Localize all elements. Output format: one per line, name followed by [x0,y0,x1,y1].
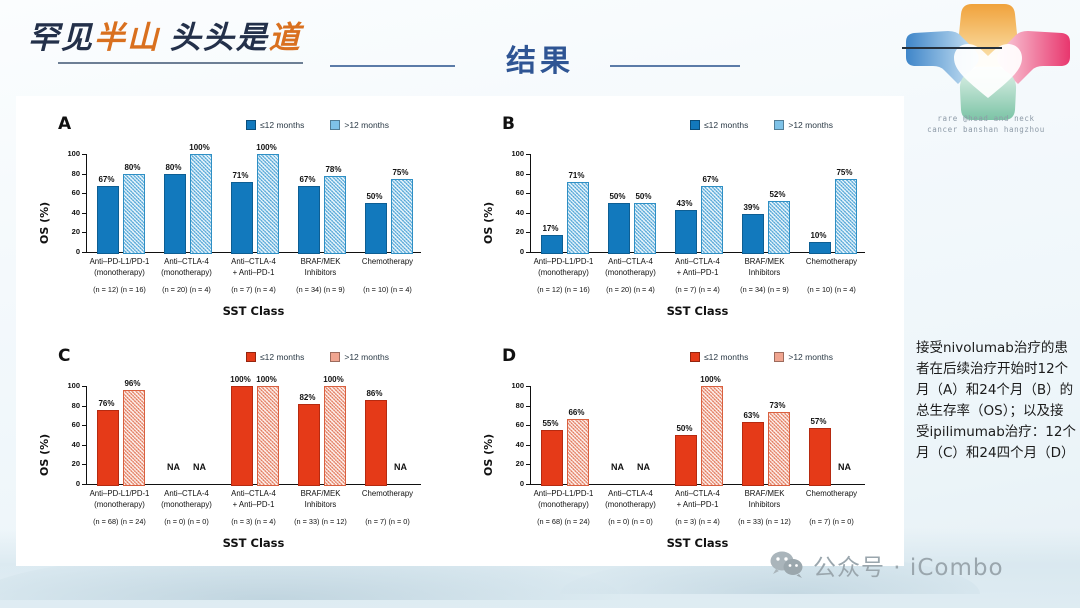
y-tick-A-80 [82,174,86,175]
bar-B-1-gt12 [634,203,656,254]
y-tick-A-20 [82,232,86,233]
chart-legend-C: ≤12 months>12 months [246,352,389,362]
brand-tagline: rare @head and neck cancer banshan hangz… [902,114,1070,136]
bar-value-C-3-gt12: 100% [315,375,353,384]
bar-value-C-2-gt12: 100% [248,375,286,384]
bar-value-B-2-le12: 43% [666,199,704,208]
x-n-label-C-4: (n = 7) (n = 0) [348,517,427,526]
legend-label-le12: ≤12 months [704,352,748,362]
legend-item-le12: ≤12 months [246,352,304,362]
legend-swatch-gt12 [330,352,340,362]
bar-na-D-4-1: NA [829,462,861,472]
x-category-line-C-3-1: Inhibitors [281,500,360,511]
y-tick-B-80 [526,174,530,175]
bar-value-A-1-gt12: 100% [181,143,219,152]
y-tick-A-40 [82,213,86,214]
bar-value-B-3-gt12: 52% [759,190,797,199]
bar-value-D-3-le12: 63% [733,411,771,420]
y-tick-D-100 [526,386,530,387]
bar-A-2-gt12 [257,154,279,254]
y-tick-C-60 [82,425,86,426]
bar-value-B-4-le12: 10% [800,231,838,240]
chart-legend-A: ≤12 months>12 months [246,120,389,130]
bar-A-0-le12 [97,186,119,254]
wechat-watermark: 公众号 · iCombo [770,548,1004,582]
y-tick-B-20 [526,232,530,233]
y-axis-label-A: OS (%) [38,202,51,244]
y-tick-C-80 [82,406,86,407]
x-category-line-C-4-0: Chemotherapy [348,489,427,500]
y-tick-A-0 [82,252,86,253]
x-category-line-D-3-1: Inhibitors [725,500,804,511]
legend-swatch-le12 [246,120,256,130]
bar-value-C-4-le12: 86% [356,389,394,398]
x-category-line-B-4-0: Chemotherapy [792,257,871,268]
bar-C-3-le12 [298,404,320,486]
legend-label-le12: ≤12 months [260,352,304,362]
y-tick-D-80 [526,406,530,407]
legend-item-gt12: >12 months [330,120,389,130]
y-tick-label-B-100: 100 [498,149,524,158]
legend-item-le12: ≤12 months [246,120,304,130]
y-axis-line-A [86,154,87,252]
bar-value-A-2-gt12: 100% [248,143,286,152]
x-n-label-D-4: (n = 7) (n = 0) [792,517,871,526]
brand-tagline-line1: rare @head and neck [902,114,1070,125]
y-tick-label-D-80: 80 [498,401,524,410]
y-tick-label-C-40: 40 [54,440,80,449]
y-tick-label-A-0: 0 [54,247,80,256]
legend-label-gt12: >12 months [788,120,833,130]
bar-C-0-gt12 [123,390,145,486]
y-tick-label-B-80: 80 [498,169,524,178]
bar-C-0-le12 [97,410,119,486]
y-axis-line-D [530,386,531,484]
bar-B-4-gt12 [835,179,857,255]
y-tick-D-20 [526,464,530,465]
chart-legend-B: ≤12 months>12 months [690,120,833,130]
bar-A-4-gt12 [391,179,413,255]
x-axis-title-A: SST Class [86,304,421,318]
annotation-text: 接受nivolumab治疗的患者在后续治疗开始时12个月（A）和24个月（B）的… [916,338,1076,464]
legend-item-gt12: >12 months [774,352,833,362]
bar-D-2-le12 [675,435,697,486]
bar-na-C-4-1: NA [385,462,417,472]
bar-C-3-gt12 [324,386,346,486]
wechat-icon [770,551,804,579]
x-category-line-A-3-1: Inhibitors [281,268,360,279]
bar-value-A-4-le12: 50% [356,192,394,201]
legend-swatch-gt12 [774,352,784,362]
y-tick-D-40 [526,445,530,446]
y-tick-label-B-20: 20 [498,227,524,236]
y-tick-D-60 [526,425,530,426]
legend-item-gt12: >12 months [330,352,389,362]
y-tick-B-40 [526,213,530,214]
y-axis-line-B [530,154,531,252]
hands-heart-icon [902,2,1074,128]
y-tick-C-40 [82,445,86,446]
brand-tagline-line2: cancer banshan hangzhou [902,125,1070,136]
bar-value-B-1-gt12: 50% [625,192,663,201]
y-tick-label-D-60: 60 [498,420,524,429]
x-category-label-C-4: Chemotherapy [348,489,427,500]
panel-letter-B: B [502,114,515,134]
bar-value-A-0-le12: 67% [88,175,126,184]
bar-value-A-1-le12: 80% [155,163,193,172]
bar-A-1-le12 [164,174,186,254]
panel-letter-C: C [58,346,70,366]
legend-label-le12: ≤12 months [704,120,748,130]
legend-swatch-le12 [690,352,700,362]
bar-C-2-le12 [231,386,253,486]
y-tick-label-B-60: 60 [498,188,524,197]
y-tick-D-0 [526,484,530,485]
bar-B-0-gt12 [567,182,589,254]
x-category-line-A-4-0: Chemotherapy [348,257,427,268]
x-axis-title-C: SST Class [86,536,421,550]
bar-A-3-le12 [298,186,320,254]
bar-value-B-4-gt12: 75% [826,168,864,177]
y-axis-label-D: OS (%) [482,434,495,476]
bar-D-4-le12 [809,428,831,486]
bar-A-0-gt12 [123,174,145,254]
y-axis-label-C: OS (%) [38,434,51,476]
y-tick-label-C-80: 80 [54,401,80,410]
legend-label-le12: ≤12 months [260,120,304,130]
bar-value-B-2-gt12: 67% [692,175,730,184]
bar-value-D-0-gt12: 66% [558,408,596,417]
bar-C-2-gt12 [257,386,279,486]
chart-panel-B: B≤12 months>12 monthsOS (%)1008060402001… [468,102,904,332]
bar-value-D-0-le12: 55% [532,419,570,428]
y-tick-B-100 [526,154,530,155]
legend-swatch-gt12 [774,120,784,130]
legend-swatch-gt12 [330,120,340,130]
bar-D-0-gt12 [567,419,589,486]
chart-panel-C: C≤12 months>12 monthsOS (%)1008060402007… [24,334,460,564]
bar-na-C-1-1: NA [184,462,216,472]
y-tick-label-A-100: 100 [54,149,80,158]
y-tick-label-A-40: 40 [54,208,80,217]
bar-value-C-0-gt12: 96% [114,379,152,388]
legend-label-gt12: >12 months [788,352,833,362]
x-n-label-B-4: (n = 10) (n = 4) [792,285,871,294]
x-category-label-A-4: Chemotherapy [348,257,427,268]
y-tick-label-C-0: 0 [54,479,80,488]
x-category-line-D-4-0: Chemotherapy [792,489,871,500]
bar-B-1-le12 [608,203,630,254]
y-tick-label-D-100: 100 [498,381,524,390]
y-tick-label-B-0: 0 [498,247,524,256]
y-tick-label-C-20: 20 [54,459,80,468]
bar-D-0-le12 [541,430,563,486]
x-category-line-B-3-1: Inhibitors [725,268,804,279]
bar-value-B-0-le12: 17% [532,224,570,233]
header-rule-right [610,65,740,67]
y-tick-C-100 [82,386,86,387]
bar-value-A-4-gt12: 75% [382,168,420,177]
bar-value-A-3-le12: 67% [289,175,327,184]
chart-panel-D: D≤12 months>12 monthsOS (%)1008060402005… [468,334,904,564]
x-category-label-B-4: Chemotherapy [792,257,871,268]
figure-card: A≤12 months>12 monthsOS (%)1008060402006… [16,96,904,566]
x-n-label-A-4: (n = 10) (n = 4) [348,285,427,294]
bar-B-2-gt12 [701,186,723,254]
y-tick-label-D-0: 0 [498,479,524,488]
panel-letter-D: D [502,346,516,366]
y-tick-label-D-40: 40 [498,440,524,449]
y-tick-label-A-20: 20 [54,227,80,236]
brand-logo: rare @head and neck cancer banshan hangz… [902,2,1074,152]
bar-value-C-0-le12: 76% [88,399,126,408]
bar-value-A-0-gt12: 80% [114,163,152,172]
bar-D-3-le12 [742,422,764,486]
chart-legend-D: ≤12 months>12 months [690,352,833,362]
y-tick-A-60 [82,193,86,194]
bar-value-D-3-gt12: 73% [759,401,797,410]
bar-B-4-le12 [809,242,831,254]
bar-B-3-gt12 [768,201,790,254]
y-tick-label-A-80: 80 [54,169,80,178]
bar-A-3-gt12 [324,176,346,254]
bar-value-D-2-le12: 50% [666,424,704,433]
legend-item-le12: ≤12 months [690,352,748,362]
y-tick-C-0 [82,484,86,485]
bar-B-3-le12 [742,214,764,254]
bar-A-1-gt12 [190,154,212,254]
legend-item-gt12: >12 months [774,120,833,130]
legend-swatch-le12 [690,120,700,130]
bar-value-B-0-gt12: 71% [558,171,596,180]
legend-label-gt12: >12 months [344,120,389,130]
y-tick-label-A-60: 60 [54,188,80,197]
legend-swatch-le12 [246,352,256,362]
bar-A-4-le12 [365,203,387,254]
y-tick-C-20 [82,464,86,465]
bar-value-A-2-le12: 71% [222,171,260,180]
bar-B-0-le12 [541,235,563,254]
bar-B-2-le12 [675,210,697,254]
legend-item-le12: ≤12 months [690,120,748,130]
bar-na-D-1-1: NA [628,462,660,472]
bar-D-3-gt12 [768,412,790,486]
y-tick-B-60 [526,193,530,194]
y-axis-label-B: OS (%) [482,202,495,244]
y-tick-label-D-20: 20 [498,459,524,468]
y-tick-label-B-40: 40 [498,208,524,217]
y-tick-B-0 [526,252,530,253]
chart-panel-A: A≤12 months>12 monthsOS (%)1008060402006… [24,102,460,332]
y-tick-A-100 [82,154,86,155]
bar-C-4-le12 [365,400,387,486]
y-tick-label-C-60: 60 [54,420,80,429]
bar-value-B-3-le12: 39% [733,203,771,212]
x-axis-title-B: SST Class [530,304,865,318]
bar-A-2-le12 [231,182,253,254]
panel-letter-A: A [58,114,71,134]
legend-label-gt12: >12 months [344,352,389,362]
bar-value-D-2-gt12: 100% [692,375,730,384]
y-tick-label-C-100: 100 [54,381,80,390]
bar-value-C-3-le12: 82% [289,393,327,402]
wechat-label: 公众号 · iCombo [813,548,1004,582]
bar-D-2-gt12 [701,386,723,486]
bar-value-A-3-gt12: 78% [315,165,353,174]
bar-value-D-4-le12: 57% [800,417,838,426]
x-category-label-D-4: Chemotherapy [792,489,871,500]
